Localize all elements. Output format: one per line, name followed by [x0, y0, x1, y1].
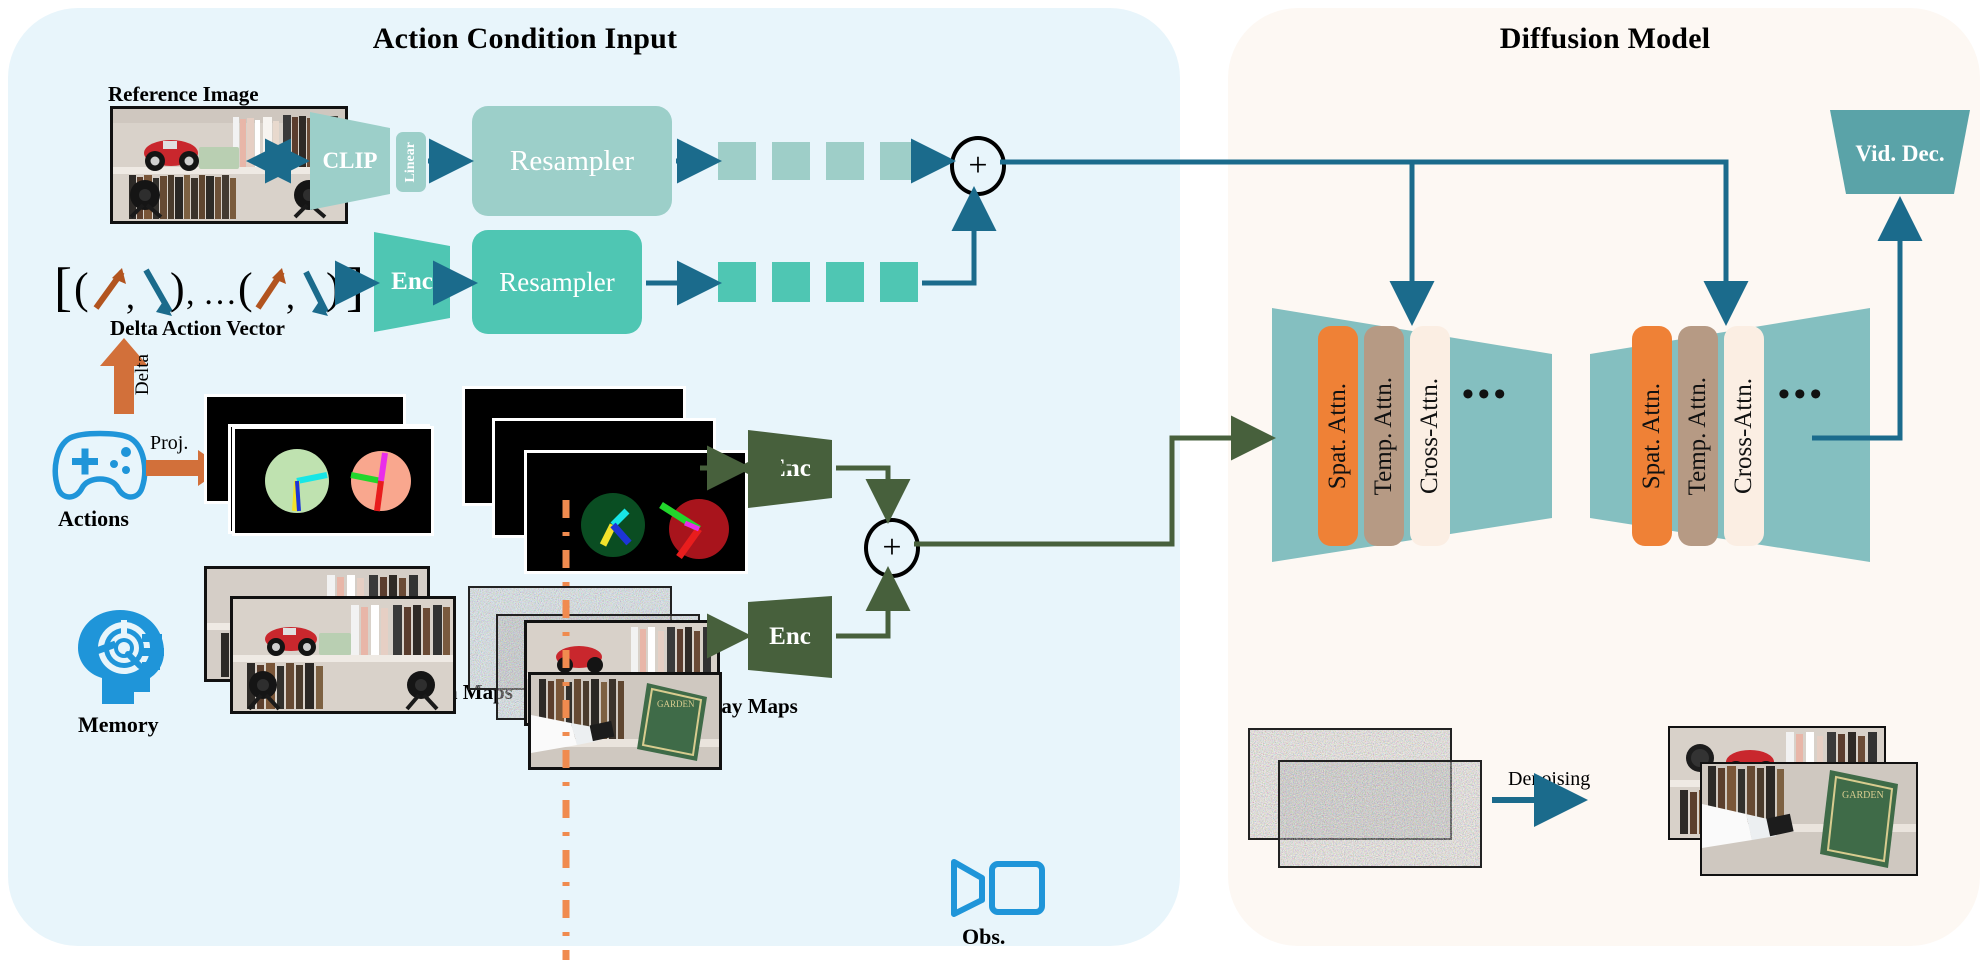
svg-text:(: (: [238, 264, 253, 313]
gamepad-icon: [48, 430, 152, 502]
svg-text:,: ,: [286, 276, 295, 316]
temp-attn-label-2: Temp. Attn.: [1684, 377, 1712, 495]
action-token-2: [772, 262, 810, 302]
cross-attn-label-2: Cross-Attn.: [1730, 378, 1758, 494]
video-decoder-label: Vid. Dec.: [1830, 112, 1970, 196]
svg-text:, …: , …: [186, 275, 237, 312]
memory-frame-front: [230, 596, 456, 714]
sum-node-latents: +: [864, 518, 920, 578]
svg-text:[: [: [54, 257, 72, 317]
obs-frame-clean-2: GARDEN: [528, 672, 722, 770]
delta-arrow-label-wrap: Delta: [130, 340, 156, 410]
memory-brain-icon: [72, 604, 168, 708]
temp-attn-label-1: Temp. Attn.: [1370, 377, 1398, 495]
linear-label: Linear: [403, 142, 419, 182]
spat-attn-label-wrap-1: Spat. Attn.: [1318, 326, 1358, 546]
spat-attn-label-1: Spat. Attn.: [1324, 383, 1352, 489]
resampler-image-label: Resampler: [472, 106, 672, 216]
ray-map-front: [524, 450, 748, 574]
denoising-label: Denoising: [1508, 768, 1590, 791]
action-token-3: [826, 262, 864, 302]
actions-label: Actions: [58, 506, 129, 532]
cross-attn-label-wrap-2: Cross-Attn.: [1724, 326, 1764, 546]
enc-raymap-label: Enc: [748, 430, 832, 508]
image-token-3: [826, 142, 864, 180]
image-token-2: [772, 142, 810, 180]
image-token-4: [880, 142, 918, 180]
memory-label: Memory: [78, 712, 159, 738]
spat-attn-label-2: Spat. Attn.: [1638, 383, 1666, 489]
enc-noise-label: Enc: [748, 596, 832, 678]
clip-label: CLIP: [310, 112, 390, 210]
action-token-4: [880, 262, 918, 302]
svg-text:GARDEN: GARDEN: [657, 699, 695, 709]
svg-text:(: (: [74, 264, 89, 313]
cross-attn-label-1: Cross-Attn.: [1416, 378, 1444, 494]
unet-ellipsis-2: •••: [1778, 378, 1826, 412]
cross-attn-label-wrap-1: Cross-Attn.: [1410, 326, 1450, 546]
resampler-action-label: Resampler: [472, 230, 642, 334]
camera-icon: [948, 856, 1048, 920]
obs-label: Obs.: [962, 924, 1005, 950]
linear-label-wrap: Linear: [396, 132, 426, 192]
svg-text:): ): [326, 264, 341, 313]
temp-attn-label-wrap-2: Temp. Attn.: [1678, 326, 1718, 546]
denoise-output-front: GARDEN: [1700, 762, 1918, 876]
sum-node-tokens: +: [950, 136, 1006, 196]
denoise-input-front: [1278, 760, 1482, 868]
action-token-1: [718, 262, 756, 302]
delta-action-vector-expression: [ ( , ) , … ( , ) ]: [52, 250, 372, 322]
svg-text:]: ]: [346, 257, 364, 317]
delta-arrow-label: Delta: [132, 354, 154, 395]
right-panel-title: Diffusion Model: [1430, 22, 1780, 56]
svg-text:): ): [170, 264, 185, 313]
image-token-1: [718, 142, 756, 180]
enc-action-label: Enc: [374, 232, 450, 332]
unet-ellipsis-1: •••: [1462, 378, 1510, 412]
action-map-front: [232, 426, 434, 536]
left-panel-title: Action Condition Input: [360, 22, 690, 56]
svg-text:,: ,: [126, 276, 135, 316]
svg-text:GARDEN: GARDEN: [1842, 790, 1884, 801]
reference-image-label: Reference Image: [108, 82, 259, 107]
vid-dec-text: Vid. Dec.: [1855, 141, 1944, 167]
spat-attn-label-wrap-2: Spat. Attn.: [1632, 326, 1672, 546]
temp-attn-label-wrap-1: Temp. Attn.: [1364, 326, 1404, 546]
